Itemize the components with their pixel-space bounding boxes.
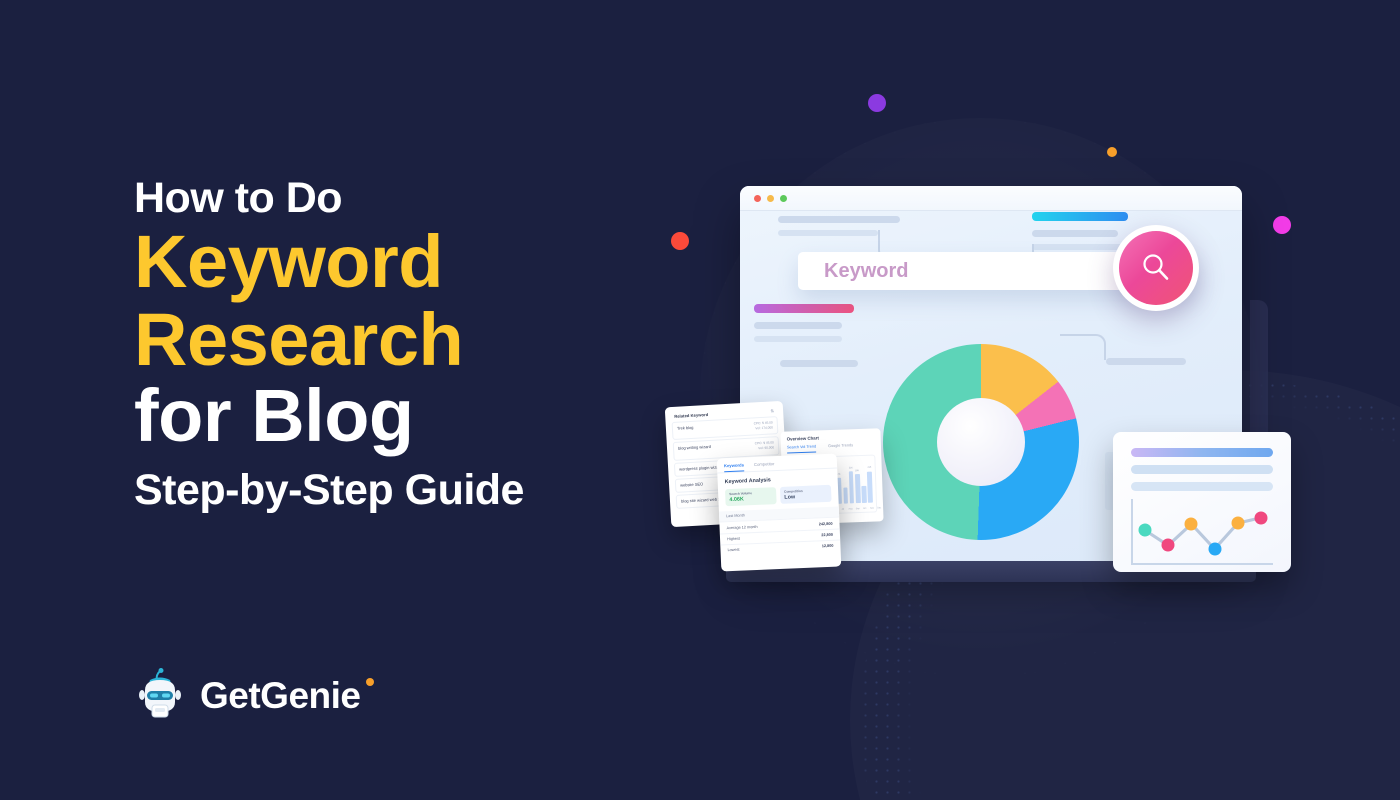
stat-search-volume-value: 4.06K	[729, 495, 772, 503]
x-tick-label: Aug	[849, 508, 853, 510]
bar	[862, 486, 867, 503]
headline-title-2: Research	[134, 302, 694, 378]
brand-dot-accent	[366, 678, 374, 686]
donut-chart	[883, 344, 1079, 540]
related-keyword-title: Related Keyword	[674, 412, 708, 419]
dot-purple	[868, 94, 886, 112]
line-chart-path	[1133, 499, 1273, 563]
table-row-label: Lowest	[727, 548, 739, 553]
table-row-value: 12,800	[822, 544, 834, 548]
line-chart-point	[1231, 517, 1244, 530]
tab-keywords[interactable]: Keywords	[724, 462, 744, 472]
brand-logo: GetGenie	[134, 668, 361, 724]
line-chart-point	[1185, 518, 1198, 531]
x-tick-label: Nov	[870, 508, 874, 510]
sort-icon[interactable]: ⇅	[770, 408, 774, 413]
table-row-label: Average 12 month	[727, 524, 758, 529]
callout-line-right-1	[1032, 230, 1118, 237]
callout-line-right-3	[1106, 358, 1186, 365]
related-keyword-name: Trek blog	[677, 425, 694, 432]
callout-line-left-2	[778, 230, 878, 236]
related-keyword-name: blog writing wizard	[678, 444, 711, 452]
bar-label: 21K	[867, 467, 871, 469]
traffic-light-close-icon[interactable]	[754, 195, 761, 202]
x-tick-label: Jul	[841, 509, 844, 511]
robot-genie-icon	[134, 668, 186, 724]
line-chart-point	[1139, 524, 1152, 537]
magnifier-icon	[1137, 249, 1175, 287]
stat-search-volume: Search Volume 4.06K	[725, 487, 777, 506]
bar-label: 21K	[849, 467, 853, 469]
tab-competitor[interactable]: Competitor	[754, 461, 775, 471]
headline-block: How to Do Keyword Research for Blog Step…	[134, 176, 694, 514]
line-chart-card[interactable]	[1113, 432, 1291, 572]
callout-line-left-1	[778, 216, 900, 223]
x-tick-label: Sep	[856, 508, 860, 510]
traffic-light-minimize-icon[interactable]	[767, 195, 774, 202]
bar: 21K	[867, 471, 873, 502]
headline-title-1: Keyword	[134, 224, 694, 300]
bar: 20K	[855, 474, 861, 503]
line-card-accent-bar	[1131, 448, 1273, 457]
bar: 21K	[849, 471, 855, 503]
overview-chart-title: Overview Chart	[787, 433, 875, 441]
line-chart-point	[1208, 542, 1221, 555]
related-keyword-metrics: CPC: $ 45.00Vol: 90,000	[755, 441, 775, 452]
related-keyword-name: website SEO	[680, 481, 703, 488]
x-tick-label: Dec	[877, 507, 881, 509]
table-row-value: 22,800	[821, 533, 833, 537]
x-tick-label: Oct	[863, 508, 866, 510]
donut-chart-hole	[937, 398, 1025, 486]
line-chart-point	[1255, 511, 1268, 524]
headline-subtitle: Step-by-Step Guide	[134, 466, 694, 514]
table-row-value: 242,800	[819, 521, 833, 526]
keyword-analysis-table-body: Average 12 month242,800Highest22,800Lowe…	[719, 517, 840, 556]
tab-google-trends[interactable]: Google Trends	[828, 443, 853, 451]
headline-title-3: for Blog	[134, 378, 694, 454]
dot-magenta	[1273, 216, 1291, 234]
brand-name: GetGenie	[200, 675, 361, 717]
callout-line-left-5	[780, 360, 858, 367]
line-chart-plot	[1131, 499, 1273, 565]
keyword-analysis-stats: Search Volume 4.06K Competition Low	[718, 485, 839, 507]
overview-chart-tabs: Search Vol Trend Google Trends	[787, 442, 875, 453]
line-card-skeleton-2	[1131, 482, 1273, 491]
line-card-skeleton-1	[1131, 465, 1273, 474]
table-row-label: Highest	[727, 537, 740, 542]
related-keyword-metrics: CPC: $ 45.00Vol: 174,000	[754, 420, 774, 431]
callout-line-left-3	[754, 322, 842, 329]
keyword-analysis-table: Last Month Average 12 month242,800Highes…	[719, 506, 841, 555]
stat-competition-value: Low	[784, 493, 827, 501]
browser-titlebar	[740, 186, 1242, 211]
bar	[843, 487, 848, 503]
search-placeholder-text: Keyword	[824, 260, 908, 283]
callout-line-left-4	[754, 336, 842, 342]
dot-orange	[1107, 147, 1117, 157]
keyword-analysis-card[interactable]: Keywords Competitor Keyword Analysis Sea…	[717, 454, 842, 572]
search-button[interactable]	[1113, 225, 1199, 311]
bar-label: 20K	[855, 470, 859, 472]
callout-accent-cyan	[1032, 212, 1128, 221]
search-button-gradient	[1119, 231, 1193, 305]
callout-line-right-2	[1032, 244, 1128, 250]
table-head-label: Last Month	[726, 514, 745, 519]
stat-competition: Competition Low	[780, 485, 832, 504]
headline-kicker: How to Do	[134, 176, 694, 222]
callout-accent-pink	[754, 304, 854, 313]
line-chart-point	[1162, 539, 1175, 552]
traffic-light-maximize-icon[interactable]	[780, 195, 787, 202]
tab-search-vol-trend[interactable]: Search Vol Trend	[787, 445, 816, 454]
